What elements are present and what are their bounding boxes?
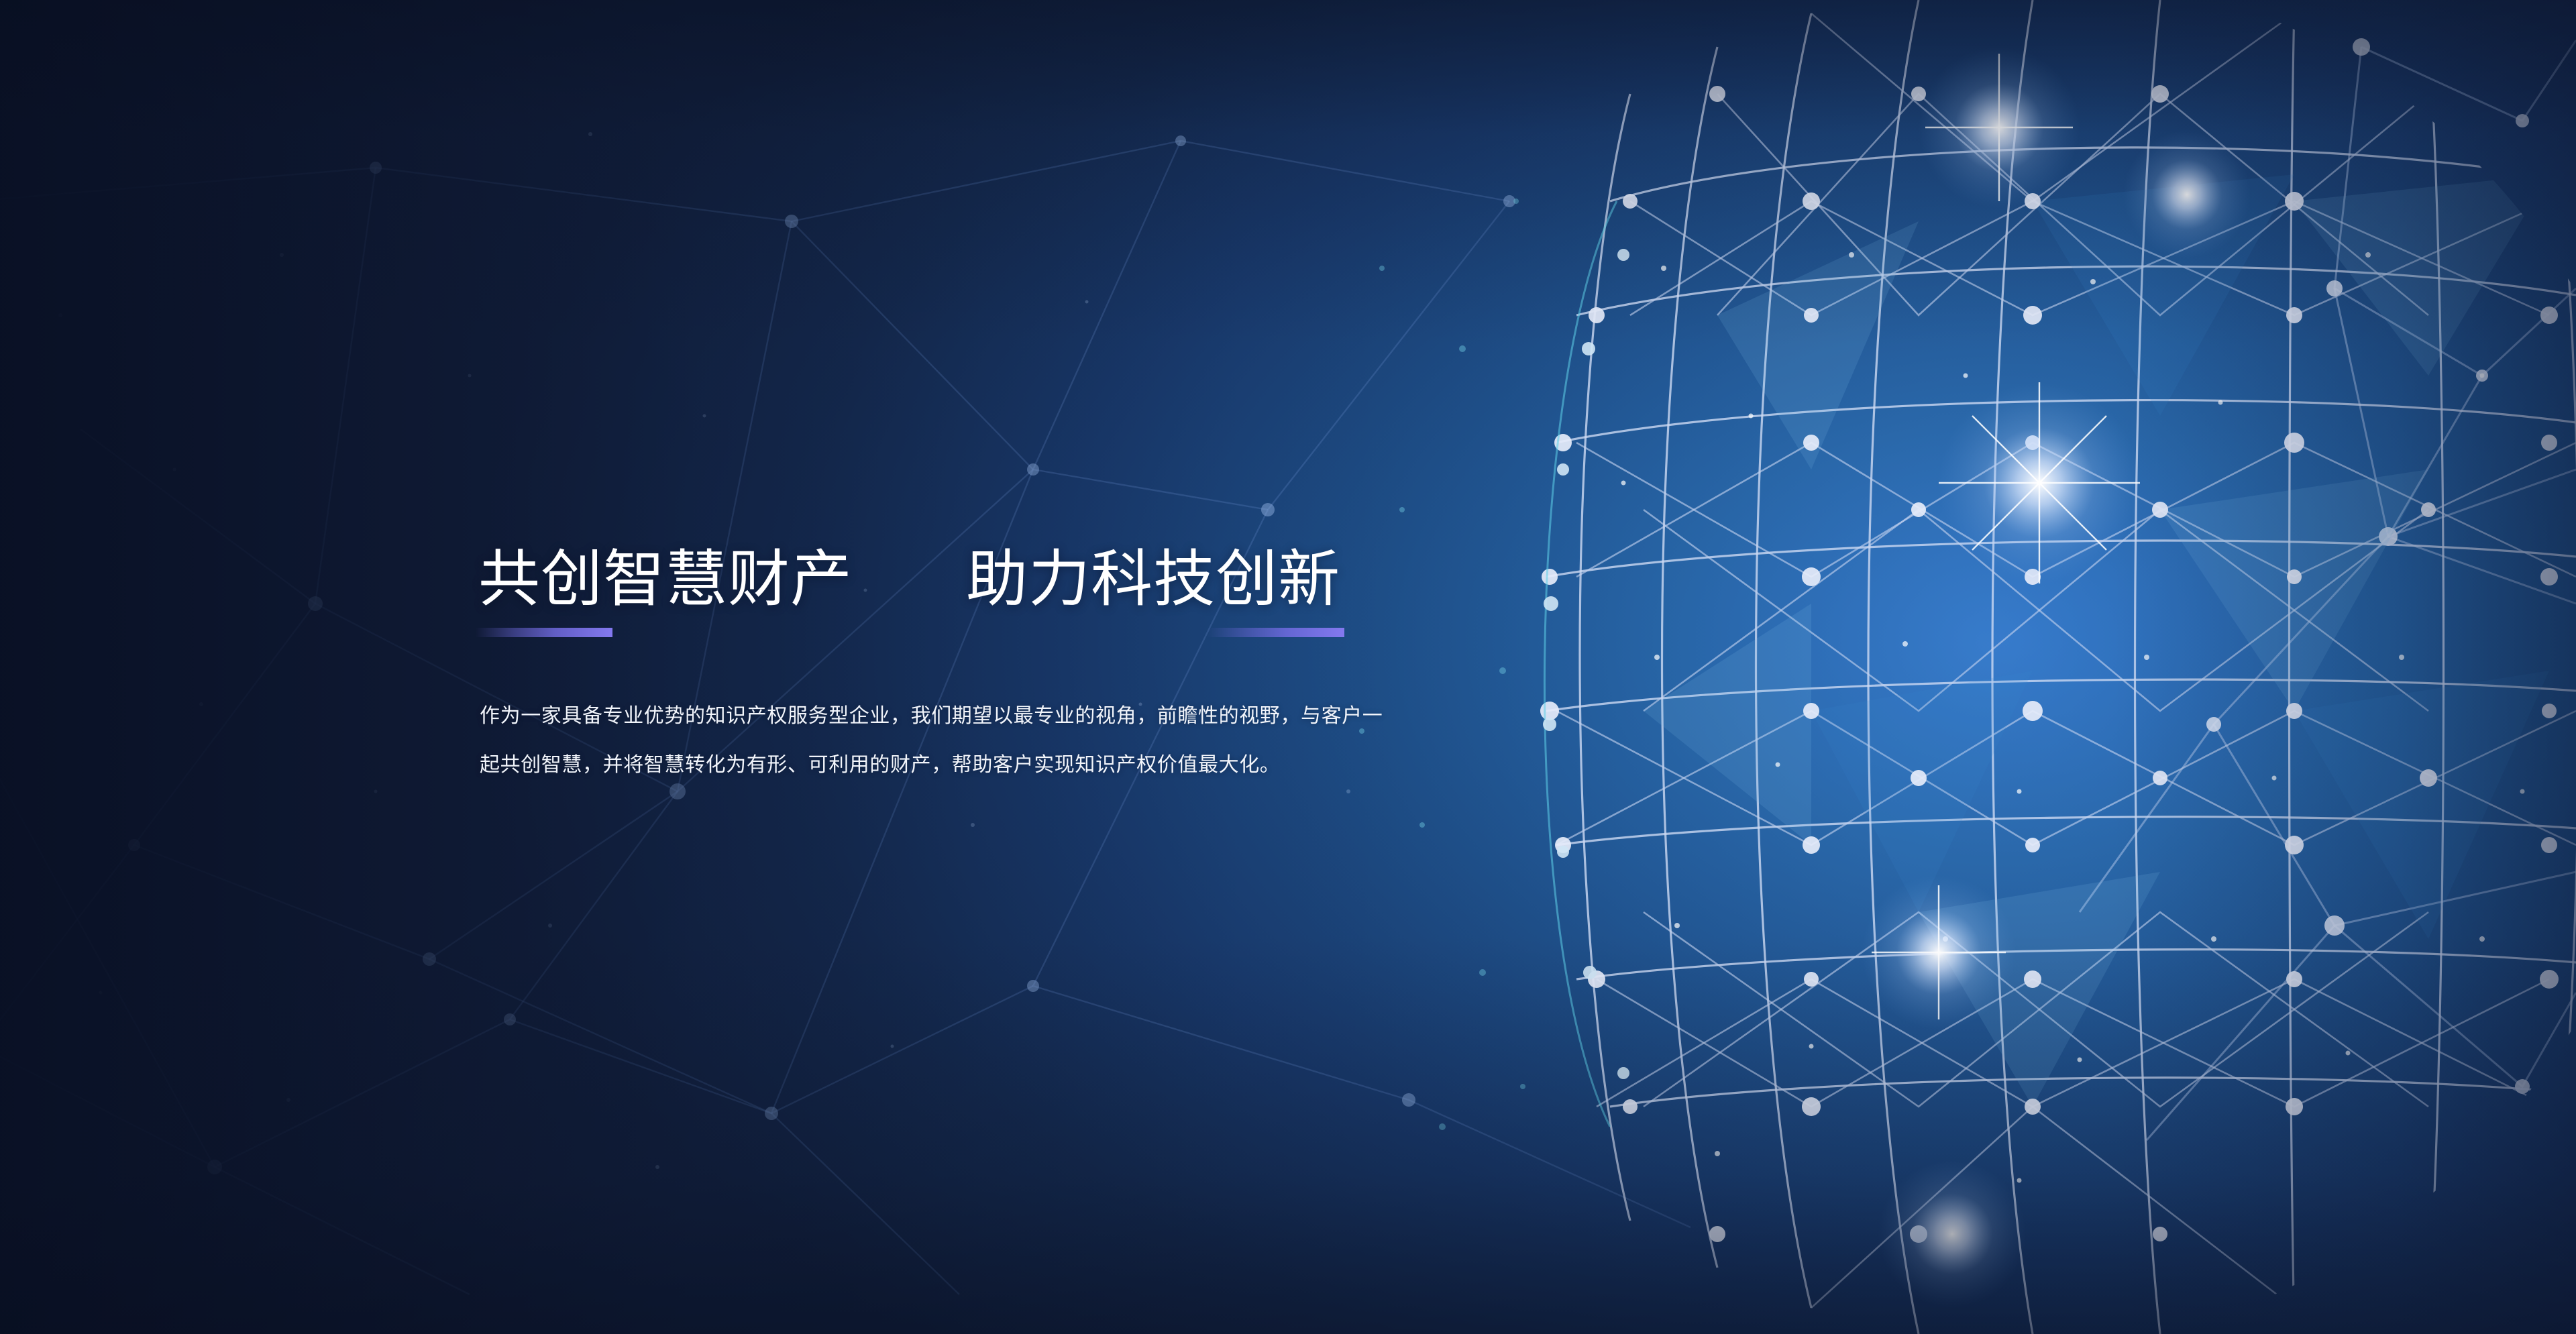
headline-text-one: 共创智慧财产 (478, 545, 853, 614)
headline-text-two: 助力科技创新 (966, 545, 1340, 614)
headline-accent-underline-one (476, 628, 612, 637)
hero-banner: 共创智慧财产 助力科技创新 作为一家具备专业优势的知识产权服务型企业，我们期望以… (0, 0, 2576, 1334)
headline-segment-one: 共创智慧财产 (478, 549, 853, 610)
hero-content: 共创智慧财产 助力科技创新 作为一家具备专业优势的知识产权服务型企业，我们期望以… (478, 549, 1417, 610)
right-vignette-overlay (0, 0, 2576, 1334)
headline-segment-two: 助力科技创新 (966, 549, 1340, 610)
hero-headline: 共创智慧财产 助力科技创新 (478, 549, 1417, 610)
hero-description: 作为一家具备专业优势的知识产权服务型企业，我们期望以最专业的视角，前瞻性的视野，… (480, 691, 1397, 789)
headline-accent-underline-two (1207, 628, 1344, 637)
